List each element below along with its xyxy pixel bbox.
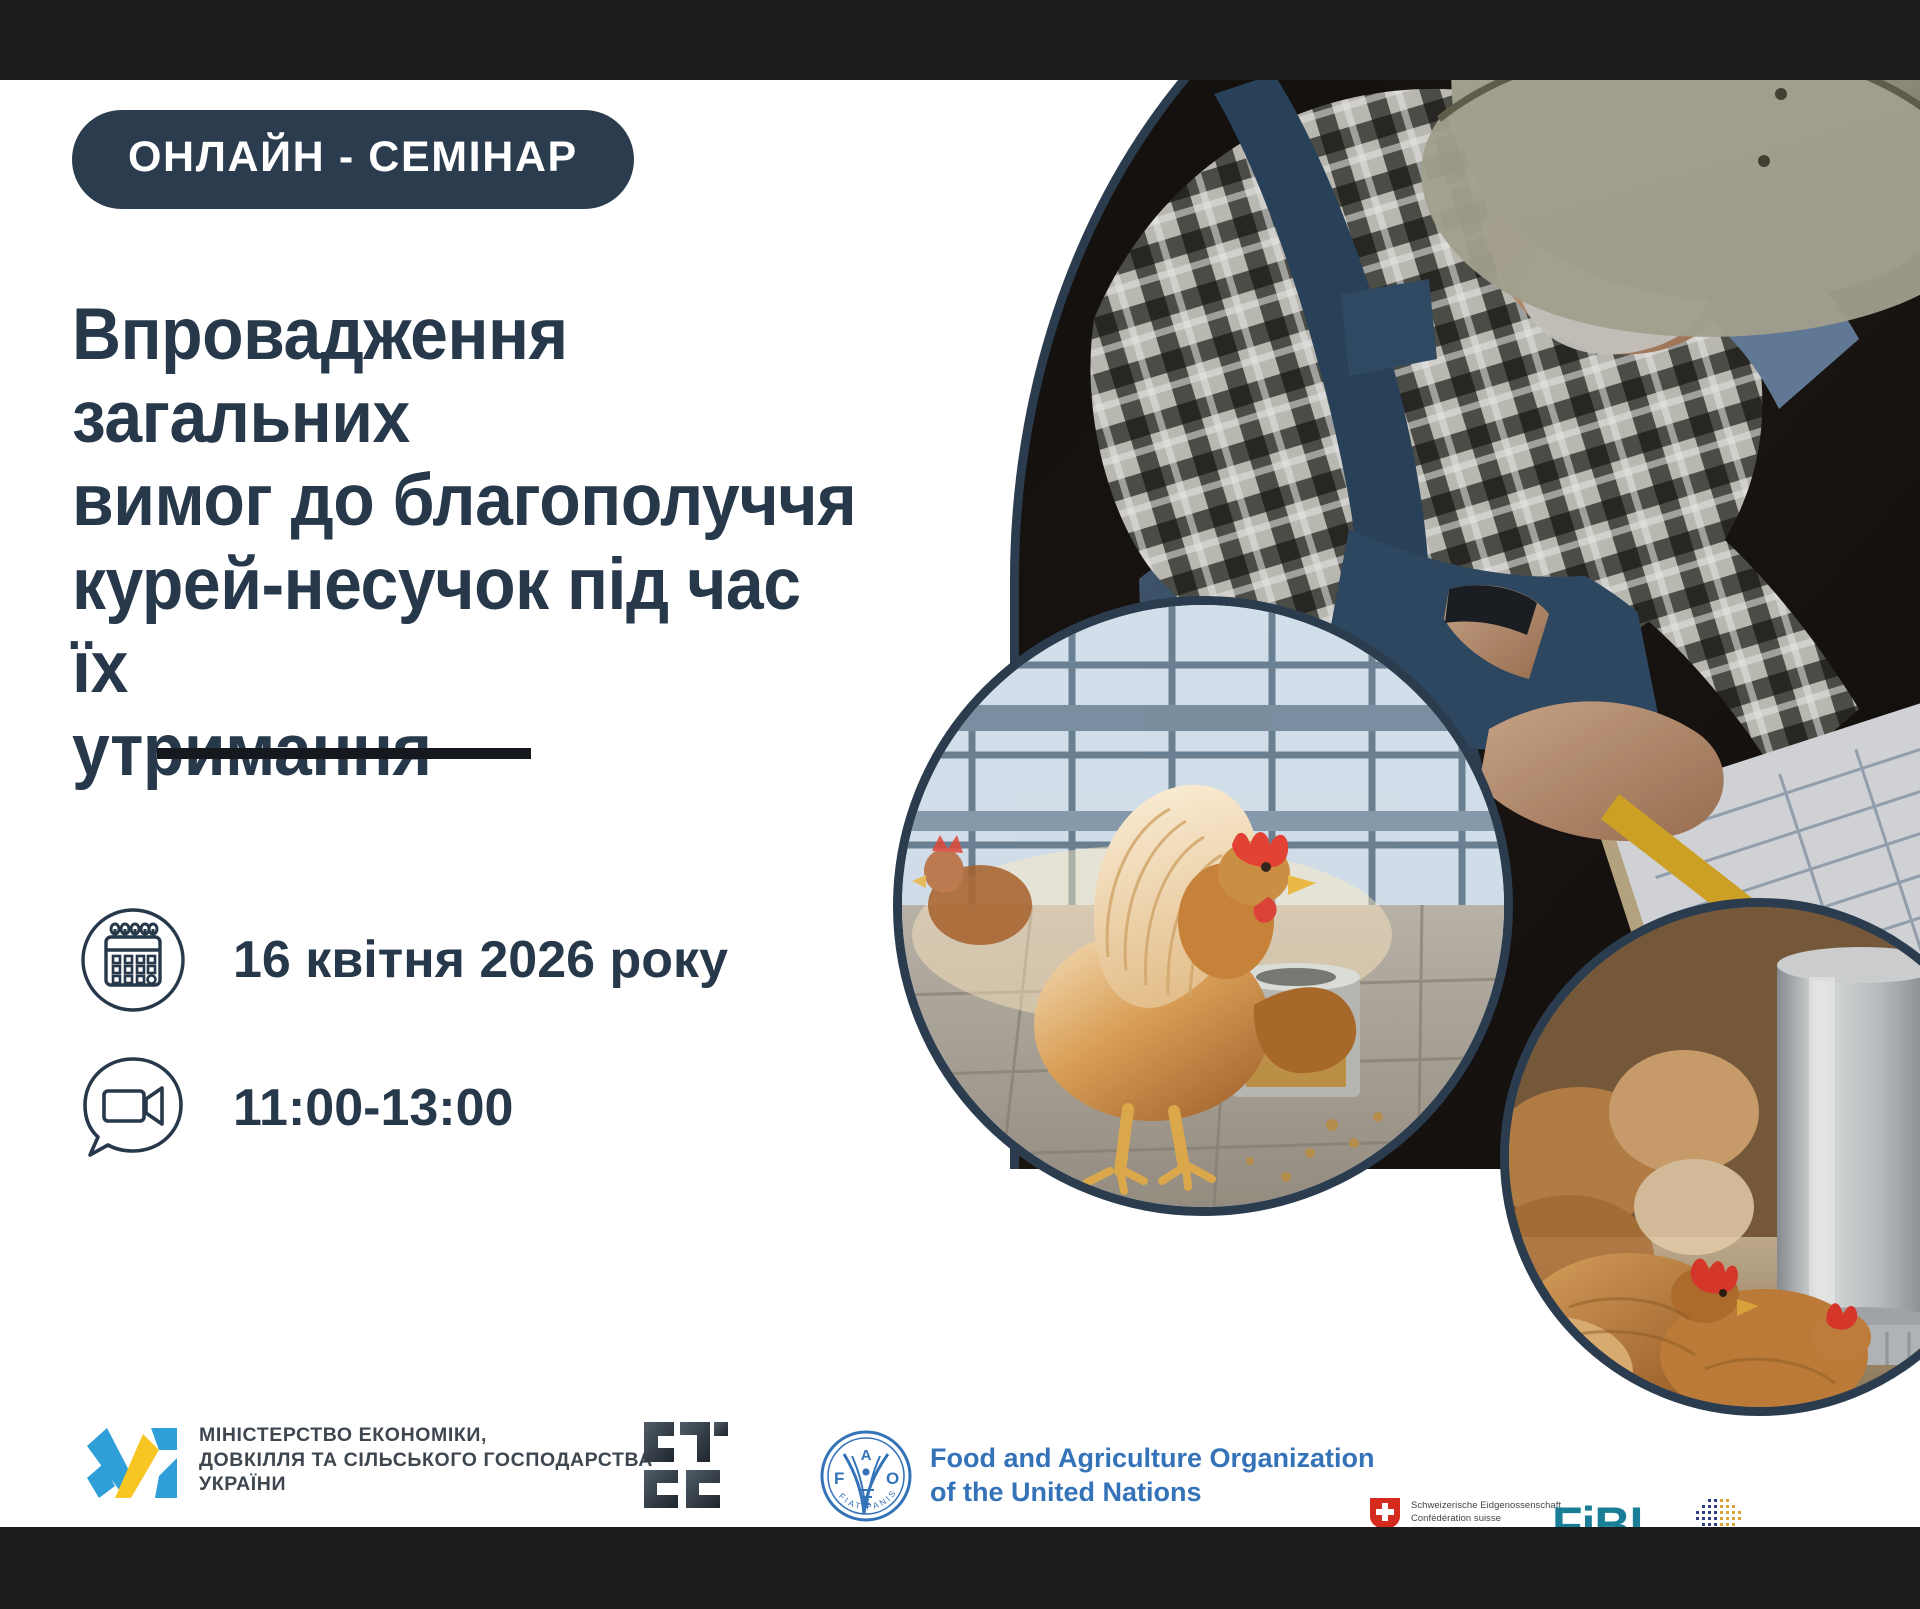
safoso-logo: SAFOSO: [1668, 1497, 1777, 1527]
dpss-logo: [640, 1418, 752, 1521]
top-dark-band: [0, 0, 1920, 80]
feeder-circle-image: [1500, 898, 1920, 1416]
fao-name: Food and Agriculture Organization of the…: [930, 1442, 1375, 1510]
calendar-icon: [80, 907, 186, 1013]
svg-text:O: O: [886, 1469, 899, 1488]
video-call-icon: [80, 1055, 186, 1161]
fao-logo: A F O FIAT PANIS Food and Agriculture Or…: [818, 1428, 1375, 1524]
fao-emblem: A F O FIAT PANIS: [818, 1428, 914, 1524]
svg-text:A: A: [861, 1447, 872, 1464]
swiss-confederation-logo: Schweizerische Eidgenossenschaft Confédé…: [1370, 1498, 1561, 1527]
event-time-label: 11:00-13:00: [233, 1078, 513, 1138]
webinar-type-badge: ОНЛАЙН - СЕМІНАР: [72, 110, 634, 209]
title-divider: [157, 748, 531, 759]
ministry-name: МІНІСТЕРСТВО ЕКОНОМІКИ, ДОВКІЛЛЯ ТА СІЛЬ…: [199, 1423, 653, 1498]
page-title: Впровадження загальних вимог до благопол…: [72, 293, 872, 792]
event-date-row: 16 квітня 2026 року: [80, 907, 728, 1013]
bottom-dark-band: [0, 1527, 1920, 1609]
swiss-cross-icon: [1370, 1498, 1400, 1527]
safoso-grid-icon: [1690, 1497, 1754, 1527]
event-time-row: 11:00-13:00: [80, 1055, 513, 1161]
ministry-of-economy-logo: МІНІСТЕРСТВО ЕКОНОМІКИ, ДОВКІЛЛЯ ТА СІЛЬ…: [85, 1420, 653, 1500]
webinar-poster: ОНЛАЙН - СЕМІНАР Впровадження загальних …: [0, 80, 1920, 1527]
hen-in-barn-photo: [902, 605, 1504, 1207]
title-line: вимог до благополуччя: [72, 459, 872, 542]
hen-circle-image: [893, 596, 1513, 1216]
swiss-confederation-languages: Schweizerische Eidgenossenschaft Confédé…: [1411, 1498, 1561, 1527]
svg-text:F: F: [834, 1469, 844, 1488]
fibl-logo: FiBL: [1552, 1500, 1659, 1527]
event-date-label: 16 квітня 2026 року: [233, 930, 728, 990]
ministry-m-mark: [85, 1420, 181, 1500]
hens-at-feeder-photo: [1509, 907, 1920, 1407]
title-line: курей-несучок під час їх: [72, 543, 872, 709]
title-line: Впровадження загальних: [72, 293, 872, 459]
